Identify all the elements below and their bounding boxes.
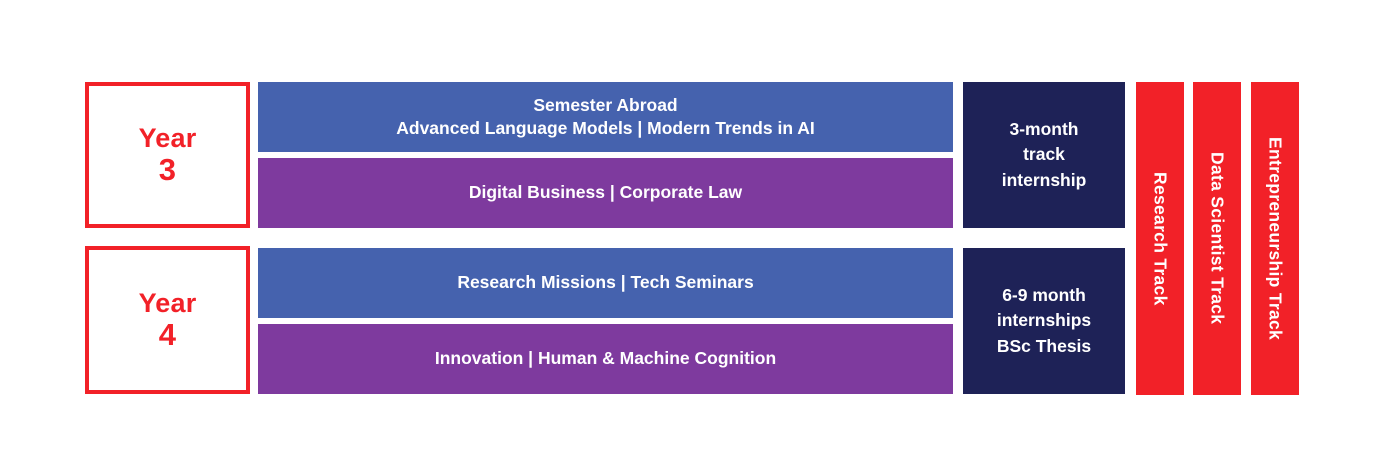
internship-year4-line2: internships — [997, 308, 1091, 333]
course-bar-year4-blue-line1: Research Missions | Tech Seminars — [457, 271, 753, 294]
track-label-data-scientist: Data Scientist Track — [1207, 152, 1228, 324]
course-bar-year4-purple: Innovation | Human & Machine Cognition — [258, 324, 953, 394]
track-bar-research: Research Track — [1136, 82, 1184, 395]
course-bar-year4-blue: Research Missions | Tech Seminars — [258, 248, 953, 318]
internship-box-year3: 3-month track internship — [963, 82, 1125, 228]
year-word-3: Year — [139, 124, 197, 153]
internship-year3-line2: track — [1023, 142, 1065, 167]
internship-year3-line3: internship — [1002, 168, 1087, 193]
internship-year4-line3: BSc Thesis — [997, 334, 1091, 359]
track-bar-data-scientist: Data Scientist Track — [1193, 82, 1241, 395]
track-label-entrepreneurship: Entrepreneurship Track — [1265, 137, 1286, 340]
course-bar-year4-purple-line1: Innovation | Human & Machine Cognition — [435, 347, 776, 370]
internship-box-year4: 6-9 month internships BSc Thesis — [963, 248, 1125, 394]
curriculum-diagram: Year 3 Semester Abroad Advanced Language… — [0, 0, 1400, 470]
course-bar-year3-blue-line2: Advanced Language Models | Modern Trends… — [396, 117, 814, 140]
track-label-research: Research Track — [1150, 172, 1171, 306]
year-number-4: 4 — [159, 318, 176, 351]
internship-year4-line1: 6-9 month — [1002, 283, 1086, 308]
year-word-4: Year — [139, 289, 197, 318]
course-bar-year3-purple-line1: Digital Business | Corporate Law — [469, 181, 742, 204]
course-bar-year3-blue-line1: Semester Abroad — [533, 94, 677, 117]
year-number-3: 3 — [159, 153, 176, 186]
year-label-box-4: Year 4 — [85, 246, 250, 394]
course-bar-year3-blue: Semester Abroad Advanced Language Models… — [258, 82, 953, 152]
course-bar-year3-purple: Digital Business | Corporate Law — [258, 158, 953, 228]
year-label-box-3: Year 3 — [85, 82, 250, 228]
track-bar-entrepreneurship: Entrepreneurship Track — [1251, 82, 1299, 395]
internship-year3-line1: 3-month — [1009, 117, 1078, 142]
